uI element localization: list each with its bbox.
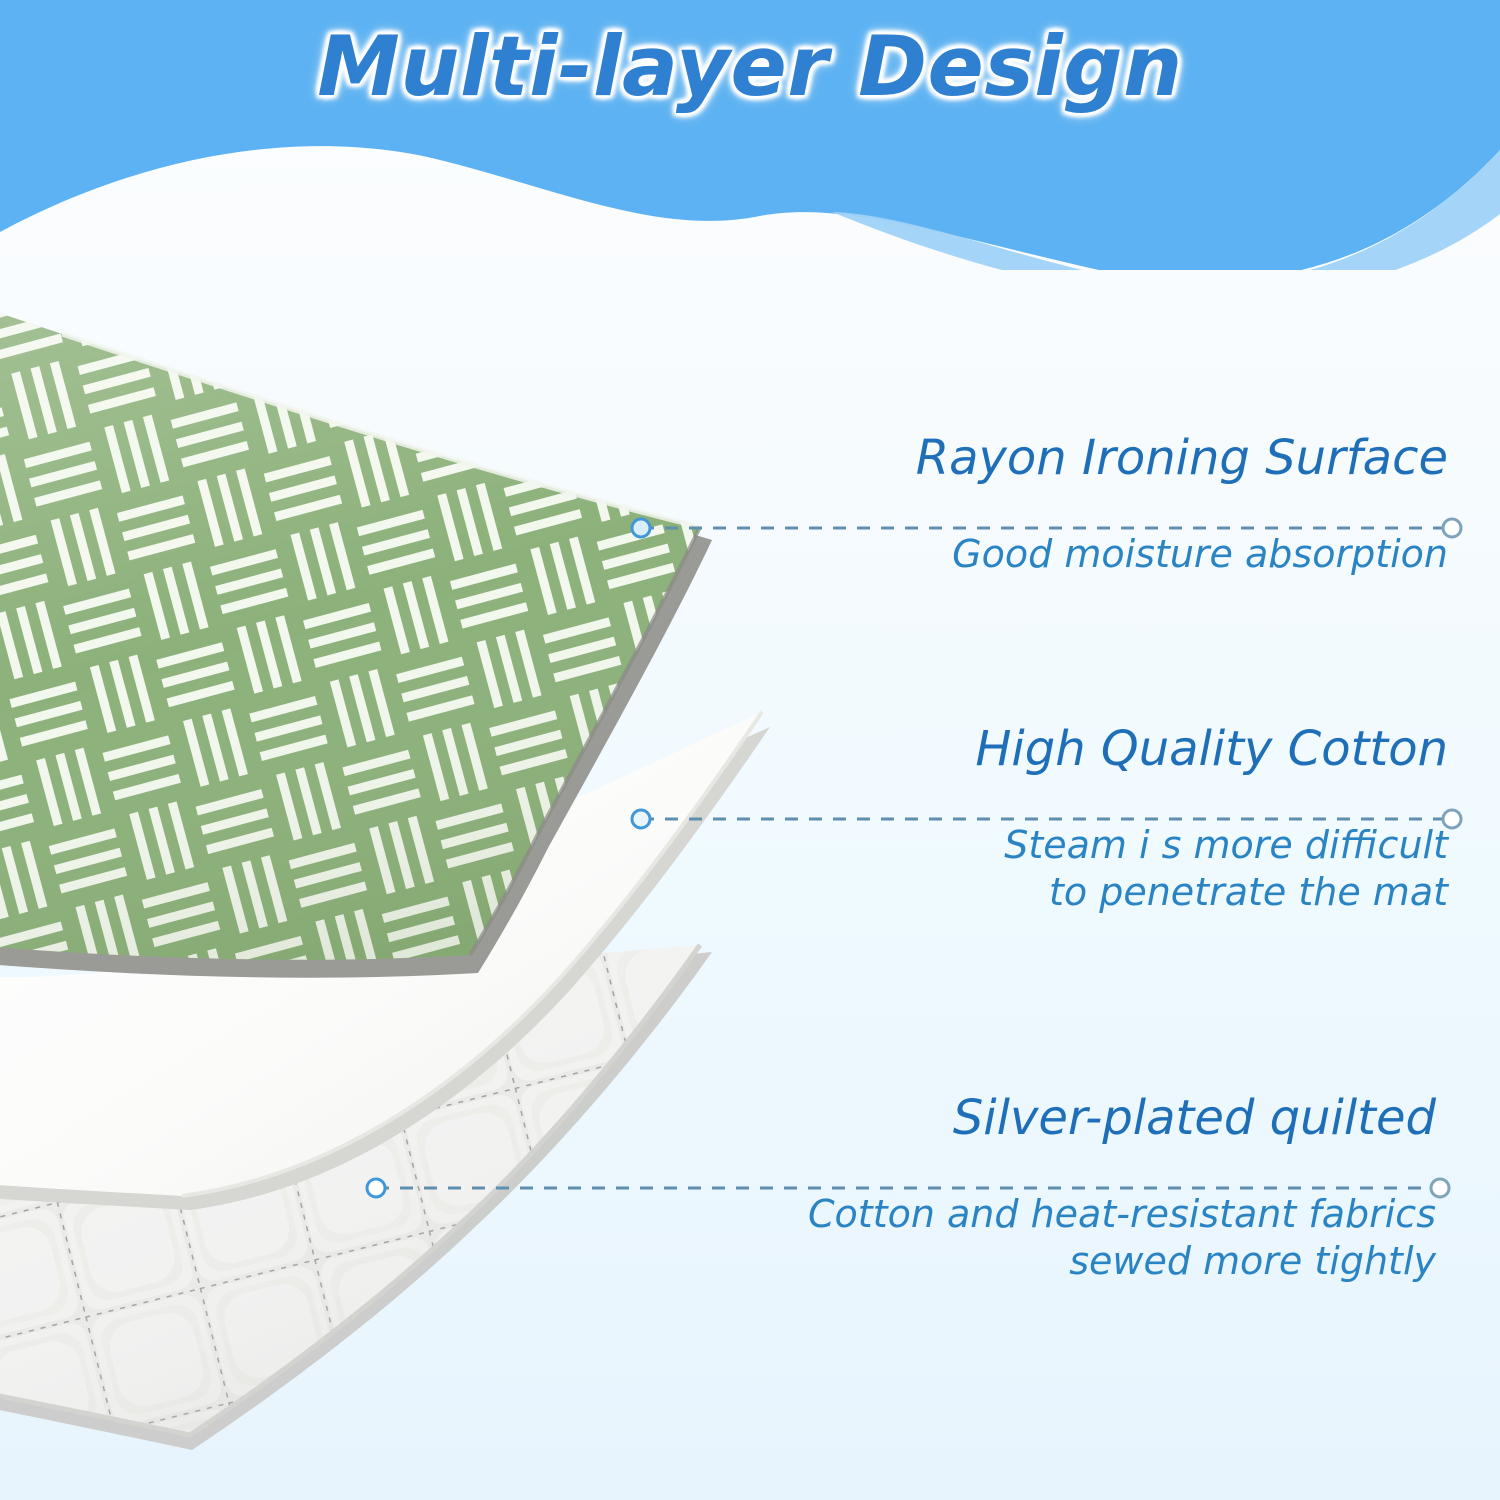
callout-title-1: Rayon Ironing Surface [748,432,1448,485]
header-wave-graphic [0,0,1500,270]
callout-rayon-ironing-surface: Rayon Ironing Surface Good moisture abso… [748,432,1448,578]
callout-title-3: Silver-plated quilted [736,1092,1436,1145]
callout-subtitle-3: Cotton and heat-resistant fabrics sewed … [736,1191,1436,1286]
callout-silver-plated-quilted: Silver-plated quilted Cotton and heat-re… [736,1092,1436,1286]
multi-layer-design-poster: Rayon Ironing Surface Good moisture abso… [0,0,1500,1500]
header-wave-dark [0,0,1500,270]
callout-high-quality-cotton: High Quality Cotton Steam i s more diffi… [748,723,1448,917]
callout-title-2: High Quality Cotton [748,723,1448,776]
callout-subtitle-1: Good moisture absorption [748,531,1448,579]
header-banner [0,0,1500,270]
callout-subtitle-2: Steam i s more difficult to penetrate th… [748,822,1448,917]
